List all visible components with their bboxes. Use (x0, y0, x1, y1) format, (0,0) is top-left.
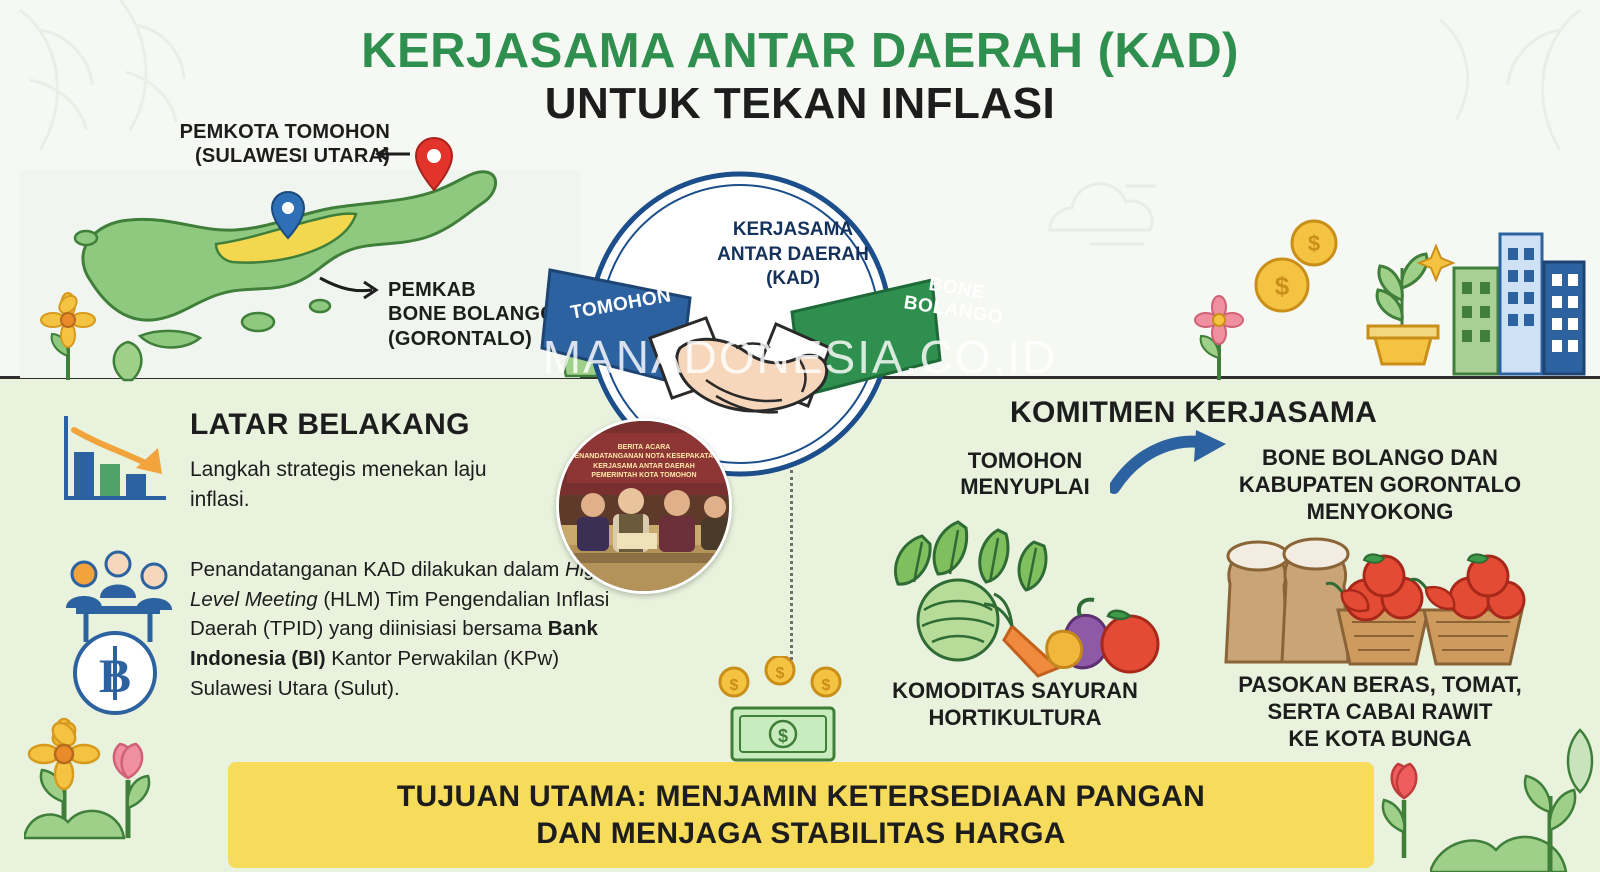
photo-caption-line2: PENANDATANGANAN NOTA KESEPAKATAN (559, 452, 729, 461)
latar-belakang-paragraph-1: Langkah strategis menekan laju inflasi. (190, 455, 530, 515)
vegetables-illustration (862, 516, 1172, 686)
svg-text:$: $ (730, 677, 739, 694)
signing-ceremony-photo: BERITA ACARA PENANDATANGANAN NOTA KESEPA… (556, 418, 732, 594)
label-receive-line1: BONE BOLANGO DAN (1215, 445, 1545, 472)
map-label-tomohon-line1: PEMKOTA TOMOHON (140, 120, 390, 144)
svg-text:$: $ (822, 677, 831, 694)
label-supply-line2: MENYUPLAI (930, 474, 1120, 500)
map-illustration: PEMKOTA TOMOHON (SULAWESI UTARA) PEMKAB … (20, 110, 580, 378)
svg-text:$: $ (776, 665, 785, 682)
caption-veg-line1: KOMODITAS SAYURAN (865, 678, 1165, 705)
footer-line1: TUJUAN UTAMA: MENJAMIN KETERSEDIAAN PANG… (397, 778, 1205, 816)
infographic-root: KERJASAMA ANTAR DAERAH (KAD) UNTUK TEKAN… (0, 0, 1600, 872)
banknote-icon: $ $ $ $ (712, 656, 852, 766)
footer-banner: TUJUAN UTAMA: MENJAMIN KETERSEDIAAN PANG… (228, 762, 1374, 868)
svg-text:$: $ (778, 726, 788, 746)
latar-belakang-para2-part-0: Penandatanganan KAD dilakukan dalam (190, 558, 565, 581)
photo-caption-line1: BERITA ACARA (559, 443, 729, 452)
map-label-tomohon: PEMKOTA TOMOHON (SULAWESI UTARA) (140, 120, 390, 169)
kad-circle-label: KERJASAMA ANTAR DAERAH (KAD) (678, 218, 908, 292)
caption-veg-line2: HORTIKULTURA (865, 705, 1165, 732)
label-tomohon-menyuplai: TOMOHON MENYUPLAI (930, 448, 1120, 501)
map-label-tomohon-line2: (SULAWESI UTARA) (140, 144, 390, 168)
section-heading-komitmen: KOMITMEN KERJASAMA (1010, 396, 1377, 430)
declining-bar-chart-icon (58, 408, 174, 510)
kad-circle-line1: KERJASAMA (678, 218, 908, 243)
curved-arrow-icon (1110, 430, 1230, 500)
photo-banner-caption: BERITA ACARA PENANDATANGANAN NOTA KESEPA… (559, 443, 729, 481)
rice-tomato-chili-illustration (1220, 522, 1550, 672)
section-heading-latar-belakang: LATAR BELAKANG (190, 408, 470, 442)
footer-line2: DAN MENJAGA STABILITAS HARGA (397, 815, 1205, 853)
plant-decor-bottom-right (1430, 690, 1600, 872)
kad-circle-line2: ANTAR DAERAH (678, 243, 908, 268)
latar-belakang-paragraph-2: Penandatanganan KAD dilakukan dalam High… (190, 555, 610, 704)
photo-caption-line4: PEMERINTAH KOTA TOMOHON (559, 471, 729, 480)
label-bone-gorontalo-menyokong: BONE BOLANGO DAN KABUPATEN GORONTALO MEN… (1215, 445, 1545, 525)
section-vertical-divider (790, 470, 793, 660)
page-title-line1: KERJASAMA ANTAR DAERAH (KAD) (0, 24, 1600, 79)
label-supply-line1: TOMOHON (930, 448, 1120, 474)
label-receive-line2: KABUPATEN GORONTALO (1215, 472, 1545, 499)
caption-vegetables: KOMODITAS SAYURAN HORTIKULTURA (865, 678, 1165, 732)
footer-text: TUJUAN UTAMA: MENJAMIN KETERSEDIAAN PANG… (397, 778, 1205, 853)
flower-decor-bottom-left (24, 662, 174, 842)
kad-circle-line3: (KAD) (678, 267, 908, 292)
photo-caption-line3: KERJASAMA ANTAR DAERAH (559, 462, 729, 471)
